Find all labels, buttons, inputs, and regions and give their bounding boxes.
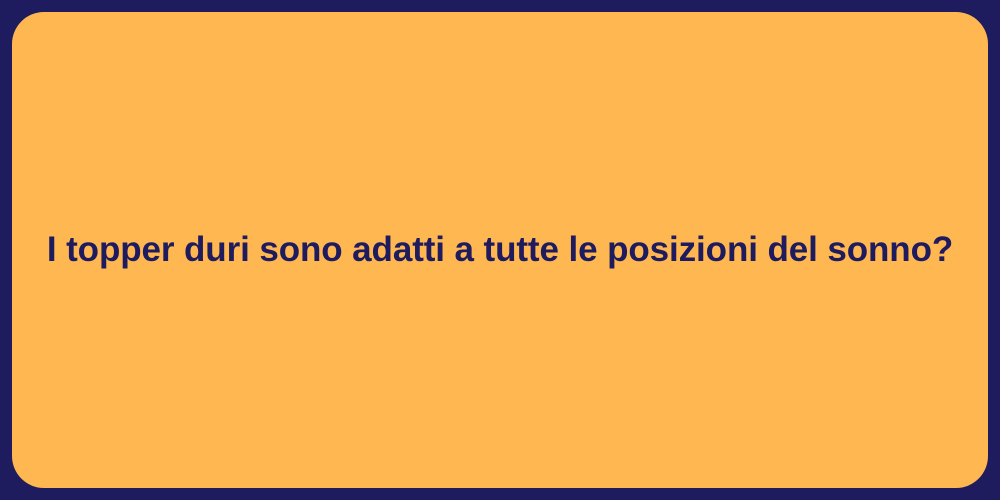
outer-frame: I topper duri sono adatti a tutte le pos…	[0, 0, 1000, 500]
headline-card: I topper duri sono adatti a tutte le pos…	[12, 12, 988, 488]
headline-text: I topper duri sono adatti a tutte le pos…	[47, 228, 953, 272]
